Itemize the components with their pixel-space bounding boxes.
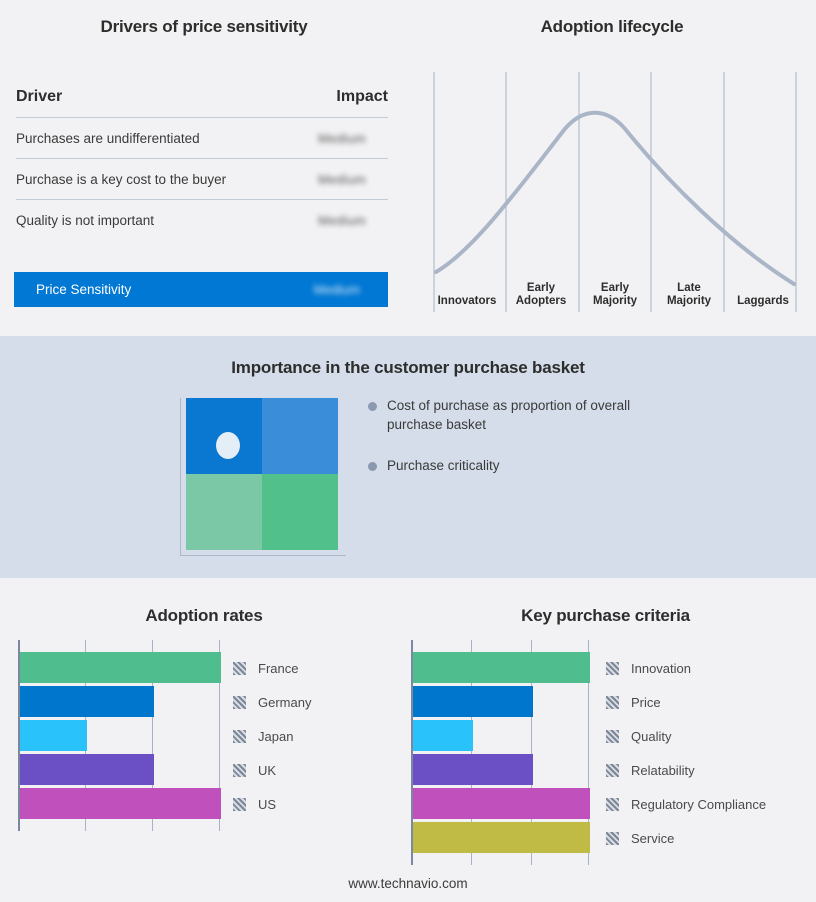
bar [20, 754, 154, 785]
stage-label-innovators: Innovators [430, 268, 504, 310]
hatch-swatch-icon [233, 764, 246, 777]
hatch-swatch-icon [606, 662, 619, 675]
price-sensitivity-impact-value: Medium [314, 282, 388, 297]
adoption-rates-panel: Adoption rates [0, 578, 408, 878]
quadrant-matrix [186, 398, 338, 550]
drivers-panel-title: Drivers of price sensitivity [0, 17, 408, 37]
legend-item-innovation: Innovation [606, 652, 766, 684]
adoption-rates-chart [18, 640, 221, 831]
price-sensitivity-summary-row: Price Sensitivity Medium [14, 272, 388, 307]
driver-label: Purchase is a key cost to the buyer [16, 172, 226, 187]
purchase-basket-panel: Importance in the customer purchase bask… [0, 336, 816, 578]
hatch-swatch-icon [606, 764, 619, 777]
legend-item-us: US [233, 788, 311, 820]
quadrant-cell-bottom-left [186, 474, 262, 550]
quadrant-position-marker [216, 432, 240, 459]
stage-line-2: Majority [578, 295, 652, 308]
list-item: Purchase criticality [368, 456, 668, 475]
legend-label: Japan [258, 729, 293, 744]
footer-url: www.technavio.com [0, 876, 816, 891]
bar-row-uk [18, 754, 221, 785]
key-purchase-criteria-chart [411, 640, 590, 865]
legend-item-quality: Quality [606, 720, 766, 752]
bar [413, 822, 590, 853]
list-item: Cost of purchase as proportion of overal… [368, 396, 668, 434]
lifecycle-stage-labels: Innovators Early Adopters Early Majority… [430, 268, 800, 310]
bar-row-quality [411, 720, 590, 751]
plot-area [411, 640, 590, 865]
bar [20, 788, 221, 819]
key-purchase-criteria-panel: Key purchase criteria [395, 578, 816, 878]
bar-row-service [411, 822, 590, 853]
hatch-swatch-icon [233, 662, 246, 675]
legend-label: Price [631, 695, 661, 710]
table-row: Quality is not important Medium [16, 200, 388, 241]
driver-impact-value: Medium [318, 131, 388, 146]
stage-label-late-majority: Late Majority [652, 268, 726, 310]
hatch-swatch-icon [233, 798, 246, 811]
bottom-section: Adoption rates [0, 578, 816, 902]
legend-item-germany: Germany [233, 686, 311, 718]
adoption-rates-legend: France Germany Japan UK US [233, 652, 311, 822]
bullet-icon [368, 462, 377, 471]
column-header-driver: Driver [16, 88, 62, 106]
top-section: Drivers of price sensitivity Driver Impa… [0, 0, 816, 336]
plot-area [18, 640, 221, 831]
bar [20, 720, 87, 751]
legend-label: Quality [631, 729, 671, 744]
stage-line-1: Early [578, 282, 652, 295]
hatch-swatch-icon [606, 832, 619, 845]
legend-label: France [258, 661, 298, 676]
hatch-swatch-icon [233, 696, 246, 709]
bell-curve-path [436, 113, 794, 284]
stage-label-early-adopters: Early Adopters [504, 268, 578, 310]
legend-item-relatability: Relatability [606, 754, 766, 786]
drivers-of-price-sensitivity-panel: Drivers of price sensitivity Driver Impa… [0, 0, 408, 336]
bar [413, 788, 590, 819]
legend-label: Germany [258, 695, 311, 710]
hatch-swatch-icon [606, 798, 619, 811]
quadrant-y-axis [180, 398, 181, 556]
legend-item-regulatory-compliance: Regulatory Compliance [606, 788, 766, 820]
table-row: Purchase is a key cost to the buyer Medi… [16, 159, 388, 200]
hatch-swatch-icon [606, 730, 619, 743]
adoption-panel-title: Adoption rates [0, 606, 408, 626]
stage-line-2: Innovators [430, 295, 504, 308]
bar-row-us [18, 788, 221, 819]
legend-label: Innovation [631, 661, 691, 676]
hatch-swatch-icon [606, 696, 619, 709]
price-sensitivity-label: Price Sensitivity [14, 282, 131, 297]
stage-line-1: Early [504, 282, 578, 295]
key-purchase-criteria-legend: Innovation Price Quality Relatability Re… [606, 652, 766, 856]
bar [20, 686, 154, 717]
basket-legend-label: Cost of purchase as proportion of overal… [387, 396, 639, 434]
legend-label: Regulatory Compliance [631, 797, 766, 812]
hatch-swatch-icon [233, 730, 246, 743]
driver-label: Quality is not important [16, 213, 154, 228]
bar [413, 686, 533, 717]
bar-rows [411, 640, 590, 865]
legend-item-service: Service [606, 822, 766, 854]
legend-label: Relatability [631, 763, 695, 778]
driver-impact-value: Medium [318, 172, 388, 187]
bar [20, 652, 221, 683]
stage-line-1: Late [652, 282, 726, 295]
driver-impact-value: Medium [318, 213, 388, 228]
quadrant-matrix-wrap [178, 398, 346, 560]
quadrant-cell-top-right [262, 398, 338, 474]
bar-row-regulatory-compliance [411, 788, 590, 819]
bar-row-germany [18, 686, 221, 717]
bar-row-innovation [411, 652, 590, 683]
basket-legend-label: Purchase criticality [387, 456, 500, 475]
quadrant-x-axis [180, 555, 346, 556]
bar [413, 754, 533, 785]
bullet-icon [368, 402, 377, 411]
legend-item-uk: UK [233, 754, 311, 786]
stage-label-early-majority: Early Majority [578, 268, 652, 310]
bar-row-relatability [411, 754, 590, 785]
drivers-table: Driver Impact Purchases are undifferenti… [16, 88, 388, 241]
stage-line-2: Adopters [504, 295, 578, 308]
drivers-table-header: Driver Impact [16, 88, 388, 118]
lifecycle-panel-title: Adoption lifecycle [408, 17, 816, 37]
basket-panel-title: Importance in the customer purchase bask… [0, 358, 816, 378]
stage-line-2: Laggards [726, 295, 800, 308]
bar-row-france [18, 652, 221, 683]
criteria-panel-title: Key purchase criteria [395, 606, 816, 626]
legend-item-price: Price [606, 686, 766, 718]
legend-item-japan: Japan [233, 720, 311, 752]
legend-item-france: France [233, 652, 311, 684]
legend-label: Service [631, 831, 674, 846]
column-header-impact: Impact [336, 88, 388, 106]
bar [413, 720, 473, 751]
quadrant-cell-bottom-right [262, 474, 338, 550]
stage-line-2: Majority [652, 295, 726, 308]
bar-rows [18, 640, 221, 831]
bar [413, 652, 590, 683]
table-row: Purchases are undifferentiated Medium [16, 118, 388, 159]
bar-row-japan [18, 720, 221, 751]
legend-label: US [258, 797, 276, 812]
driver-label: Purchases are undifferentiated [16, 131, 200, 146]
adoption-lifecycle-panel: Adoption lifecycle Innovators [408, 0, 816, 336]
bar-row-price [411, 686, 590, 717]
stage-label-laggards: Laggards [726, 268, 800, 310]
basket-legend: Cost of purchase as proportion of overal… [368, 396, 668, 497]
legend-label: UK [258, 763, 276, 778]
